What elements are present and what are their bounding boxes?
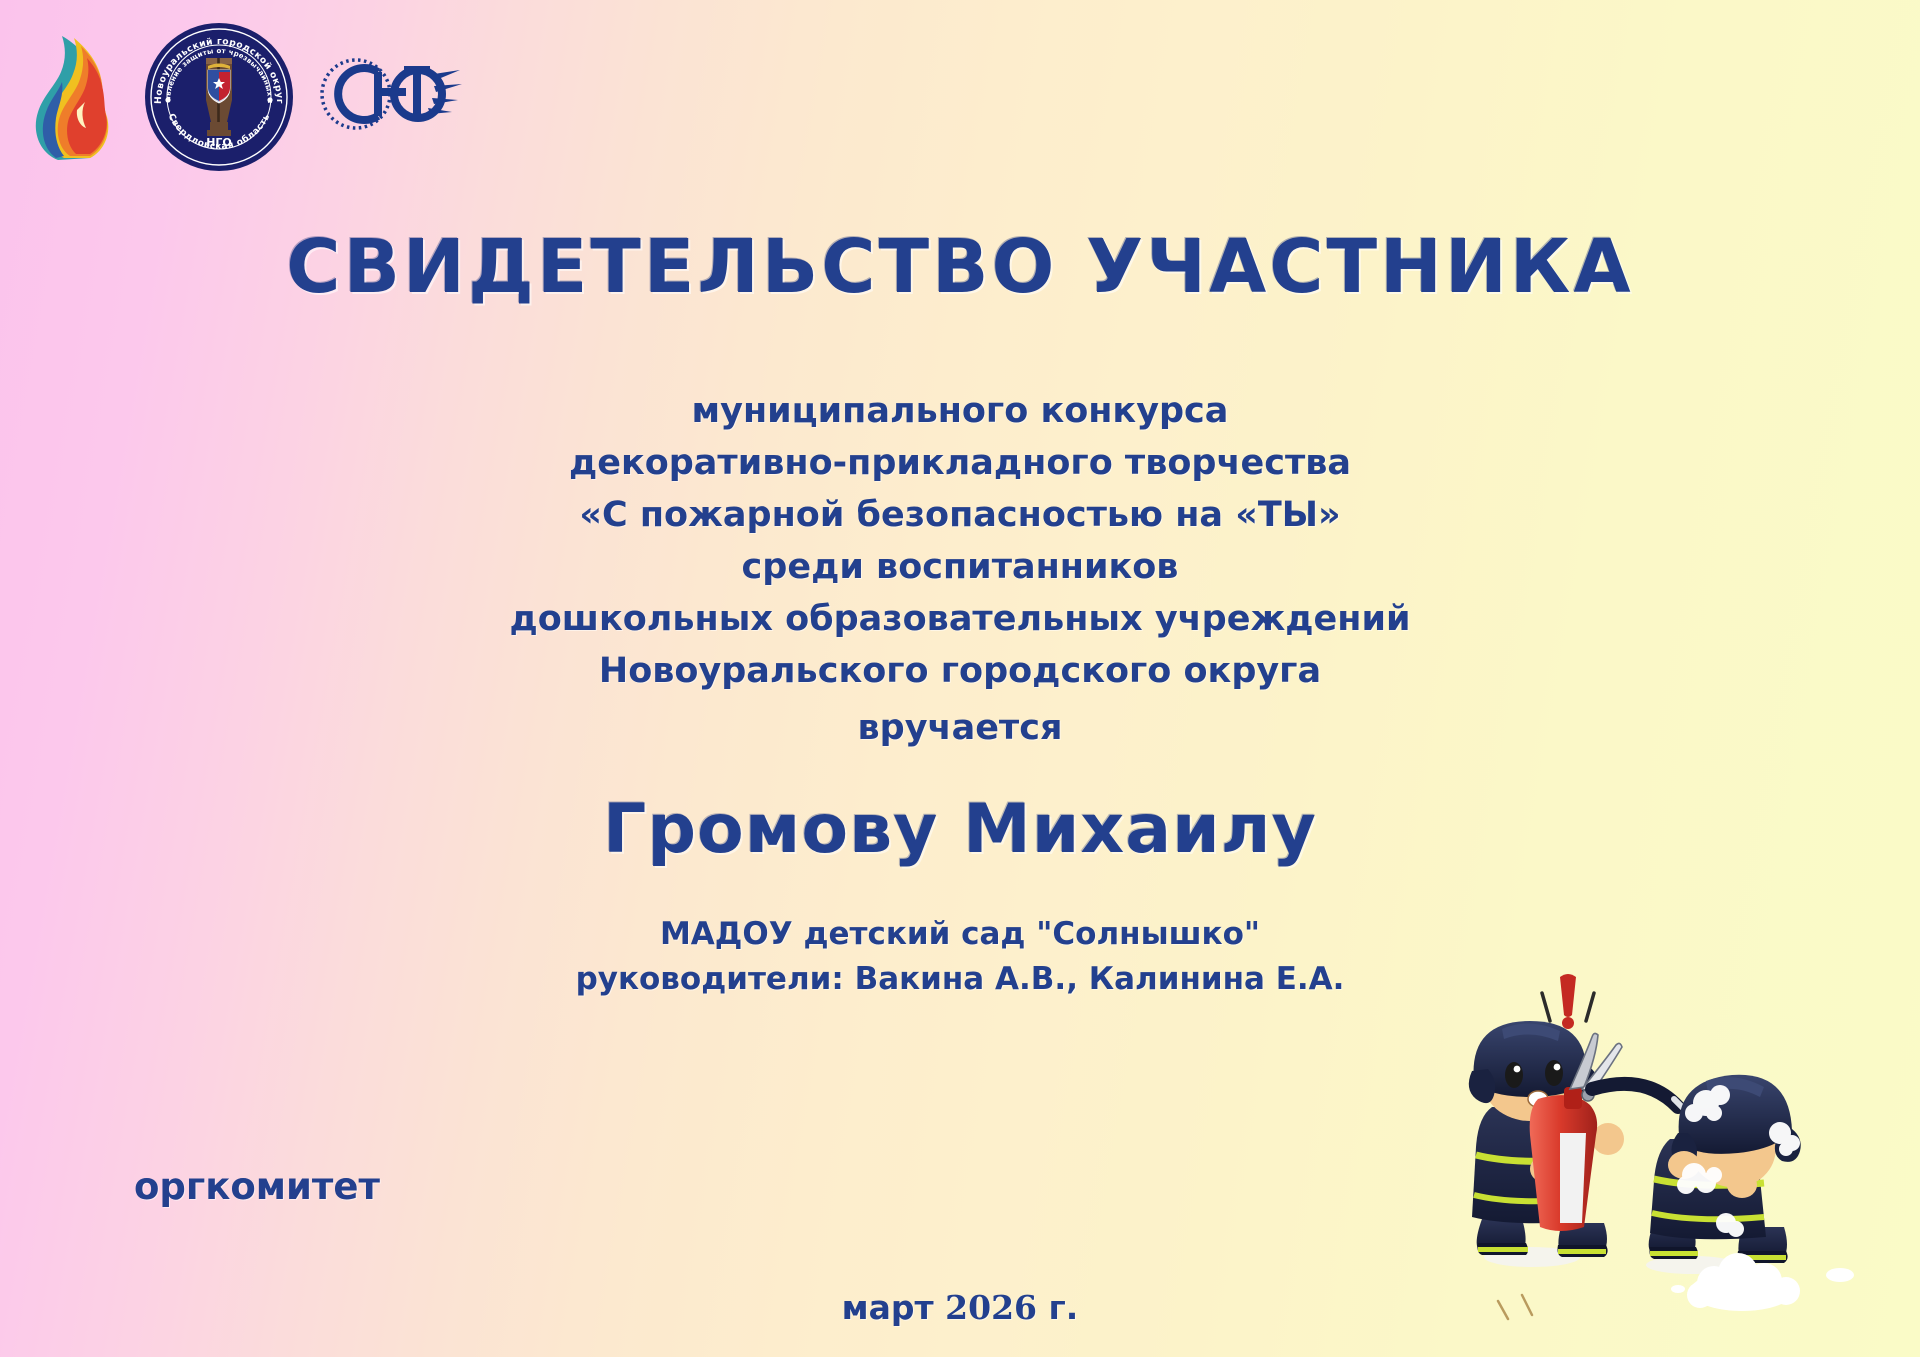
nго-seal-logo: Новоуральский городской округ МКУ «Управ…: [144, 22, 294, 172]
logo-row: Новоуральский городской округ МКУ «Управ…: [28, 22, 462, 172]
two-firefighter-kids-illustration: [1442, 947, 1912, 1347]
description-line: Новоуральского городского округа: [0, 645, 1920, 697]
exclamation-icon: [1542, 974, 1594, 1029]
awarded-label: вручается: [0, 708, 1920, 748]
date-suffix: г.: [1049, 1288, 1079, 1327]
date-year: 2026: [945, 1288, 1037, 1327]
description-line: «С пожарной безопасностью на «ТЫ»: [0, 489, 1920, 541]
date-month: март: [842, 1288, 934, 1327]
signatory-label: оргкомитет: [134, 1165, 380, 1208]
recipient-name: Громову Михаилу: [0, 790, 1920, 869]
svg-text:НГО: НГО: [206, 136, 232, 149]
certificate-page: Новоуральский городской округ МКУ «Управ…: [0, 0, 1920, 1357]
description-line: дошкольных образовательных учреждений: [0, 593, 1920, 645]
page-title: СВИДЕТЕЛЬСТВО УЧАСТНИКА: [0, 224, 1920, 310]
competition-description: муниципального конкурса декоративно-прик…: [0, 385, 1920, 697]
flame-logo: [28, 22, 126, 162]
description-line: декоративно-прикладного творчества: [0, 437, 1920, 489]
description-line: среди воспитанников: [0, 541, 1920, 593]
description-line: муниципального конкурса: [0, 385, 1920, 437]
snt-logo: [312, 48, 462, 144]
